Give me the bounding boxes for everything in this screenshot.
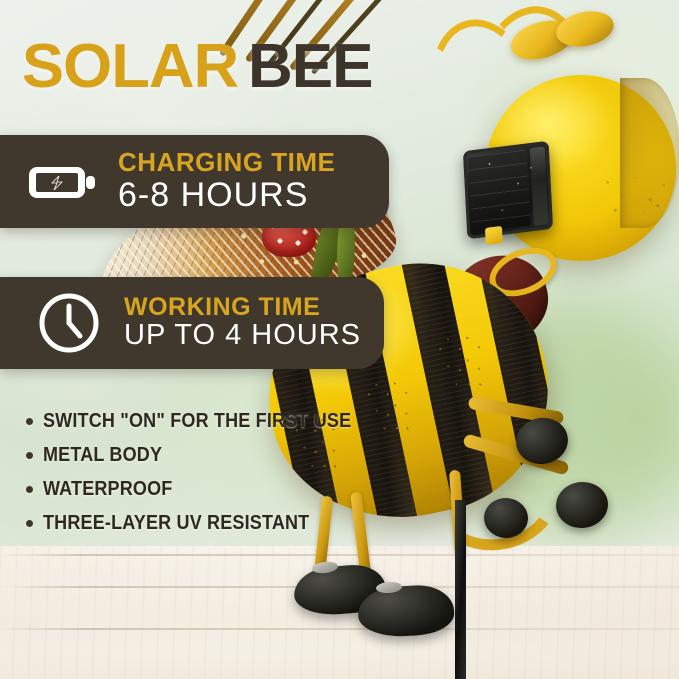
badge-charging-value: 6-8 HOURS [118,177,335,214]
clock-icon [36,290,102,356]
badge-charging-text: CHARGING TIME 6-8 HOURS [118,149,335,213]
feature-item: METAL BODY [26,444,356,467]
bee-hand [554,479,611,530]
feature-label: WATERPROOF [43,478,172,501]
feature-item: SWITCH "ON" FOR THE FIRST USE [26,410,356,433]
badge-working-title: WORKING TIME [124,294,361,320]
garden-stake-pole [455,500,466,679]
feature-item: WATERPROOF [26,478,356,501]
feature-label: THREE-LAYER UV RESISTANT [43,512,309,535]
feature-label: SWITCH "ON" FOR THE FIRST USE [43,410,351,433]
bullet-icon [26,520,33,527]
badge-working-value: UP TO 4 HOURS [124,320,361,351]
solar-panel [463,141,553,239]
product-infographic: SOLARBEE CHARGING TIME 6-8 HOURS WOR [0,0,679,679]
title-word-bee: BEE [248,36,372,98]
product-title: SOLARBEE [24,36,372,98]
power-switch[interactable] [485,226,503,245]
bullet-icon [26,452,33,459]
feature-label: METAL BODY [43,444,162,467]
badge-charging-title: CHARGING TIME [118,149,335,176]
title-word-solar: SOLAR [22,36,238,98]
bullet-icon [26,418,33,425]
bullet-icon [26,486,33,493]
badge-working-text: WORKING TIME UP TO 4 HOURS [124,294,361,352]
battery-charging-icon [26,158,100,206]
solar-panel-glint [463,141,553,239]
feature-item: THREE-LAYER UV RESISTANT [26,512,356,535]
head-glitter [600,165,676,223]
badge-working-time: WORKING TIME UP TO 4 HOURS [0,277,384,369]
badge-charging-time: CHARGING TIME 6-8 HOURS [0,135,389,228]
feature-list: SWITCH "ON" FOR THE FIRST USE METAL BODY… [26,410,356,546]
